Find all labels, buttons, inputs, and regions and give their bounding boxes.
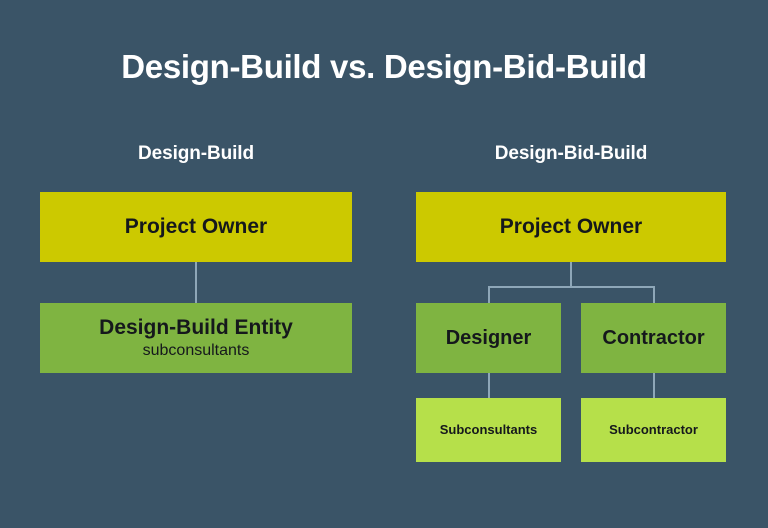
connector-contractor-to-subcontractor — [653, 372, 655, 400]
node-title: Designer — [446, 327, 532, 349]
node-project-owner-design-build[interactable]: Project Owner — [40, 192, 352, 262]
node-design-build-entity[interactable]: Design-Build Entity subconsultants — [40, 303, 352, 373]
node-title: Subconsultants — [440, 423, 538, 438]
connector-owner-stem — [570, 261, 572, 287]
column-heading-design-build: Design-Build — [40, 143, 352, 165]
node-title: Contractor — [602, 327, 704, 349]
node-title: Subcontractor — [609, 423, 698, 438]
node-contractor[interactable]: Contractor — [581, 303, 726, 373]
node-subcontractor[interactable]: Subcontractor — [581, 398, 726, 462]
node-title: Project Owner — [125, 215, 267, 239]
node-subtitle: subconsultants — [143, 341, 250, 360]
connector-owner-to-entity — [195, 261, 197, 305]
node-project-owner-design-bid-build[interactable]: Project Owner — [416, 192, 726, 262]
node-title: Project Owner — [500, 215, 642, 239]
connector-designer-to-subconsultants — [488, 372, 490, 400]
column-heading-design-bid-build: Design-Bid-Build — [416, 143, 726, 165]
connector-horizontal-bar — [488, 286, 655, 288]
diagram-canvas: { "page": { "title": "Design-Build vs. D… — [0, 0, 768, 528]
node-subconsultants[interactable]: Subconsultants — [416, 398, 561, 462]
node-designer[interactable]: Designer — [416, 303, 561, 373]
node-title: Design-Build Entity — [99, 316, 293, 340]
page-title: Design-Build vs. Design-Bid-Build — [0, 48, 768, 86]
